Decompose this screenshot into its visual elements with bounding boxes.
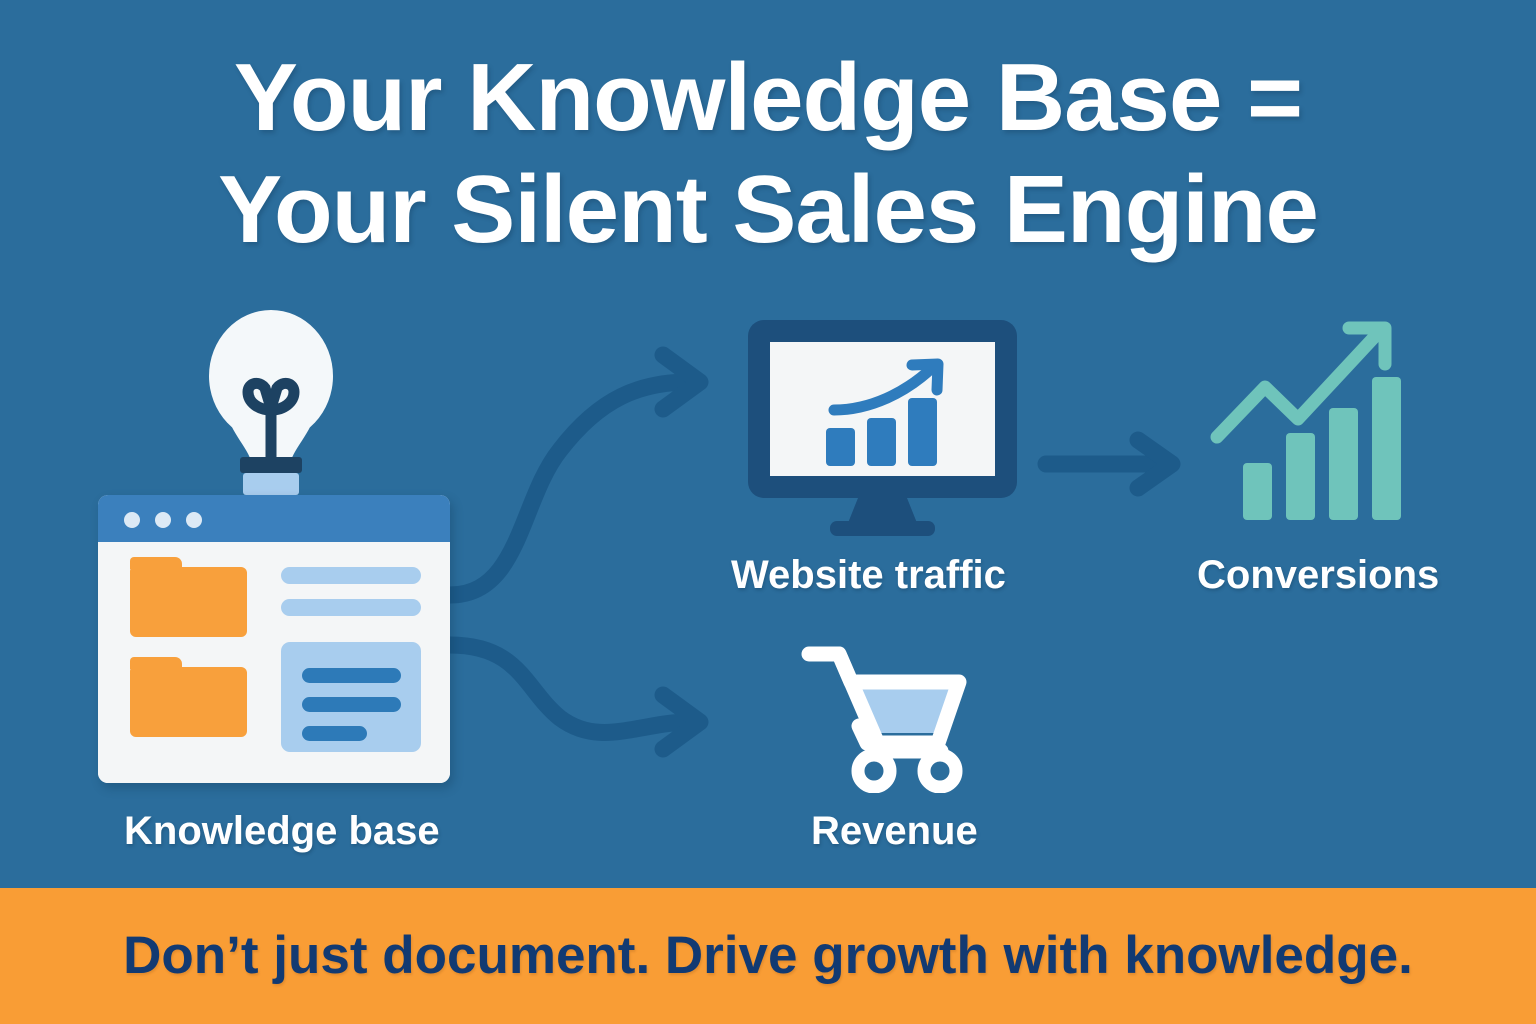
label-revenue: Revenue — [811, 808, 978, 854]
bar-2 — [1286, 433, 1315, 520]
monitor-bar-chart-icon — [740, 318, 1025, 538]
growth-chart-icon — [1205, 315, 1415, 530]
text-line-placeholder — [281, 567, 421, 584]
article-card-placeholder — [281, 642, 421, 752]
shopping-cart-icon — [795, 638, 990, 793]
page-title: Your Knowledge Base = Your Silent Sales … — [0, 42, 1536, 266]
bar-1 — [1243, 463, 1272, 520]
card-text-line — [302, 697, 401, 712]
arrow-kb-to-traffic-icon — [450, 355, 700, 595]
window-dot-icon — [155, 512, 171, 528]
bar-1 — [826, 428, 855, 466]
text-line-placeholder — [281, 599, 421, 616]
card-text-line — [302, 668, 401, 683]
bar-3 — [908, 398, 937, 466]
lightbulb-icon — [196, 300, 346, 500]
window-body — [98, 542, 450, 783]
arrow-kb-to-revenue-icon — [450, 645, 700, 749]
infographic-canvas: Your Knowledge Base = Your Silent Sales … — [0, 0, 1536, 1024]
bar-3 — [1329, 408, 1358, 520]
folder-icon — [130, 567, 247, 637]
label-knowledge-base: Knowledge base — [124, 808, 440, 854]
banner-tagline: Don’t just document. Drive growth with k… — [123, 926, 1413, 986]
card-text-line — [302, 726, 367, 741]
bar-4 — [1372, 377, 1401, 520]
label-website-traffic: Website traffic — [731, 552, 1006, 598]
bar-2 — [867, 418, 896, 466]
knowledge-base-window-icon — [98, 495, 450, 783]
bottom-banner: Don’t just document. Drive growth with k… — [0, 888, 1536, 1024]
title-line-1: Your Knowledge Base = — [0, 42, 1536, 154]
window-titlebar — [98, 495, 450, 542]
window-dot-icon — [124, 512, 140, 528]
window-dot-icon — [186, 512, 202, 528]
folder-icon — [130, 667, 247, 737]
title-line-2: Your Silent Sales Engine — [0, 154, 1536, 266]
arrow-traffic-to-conversions-icon — [1046, 440, 1172, 488]
label-conversions: Conversions — [1197, 552, 1439, 598]
